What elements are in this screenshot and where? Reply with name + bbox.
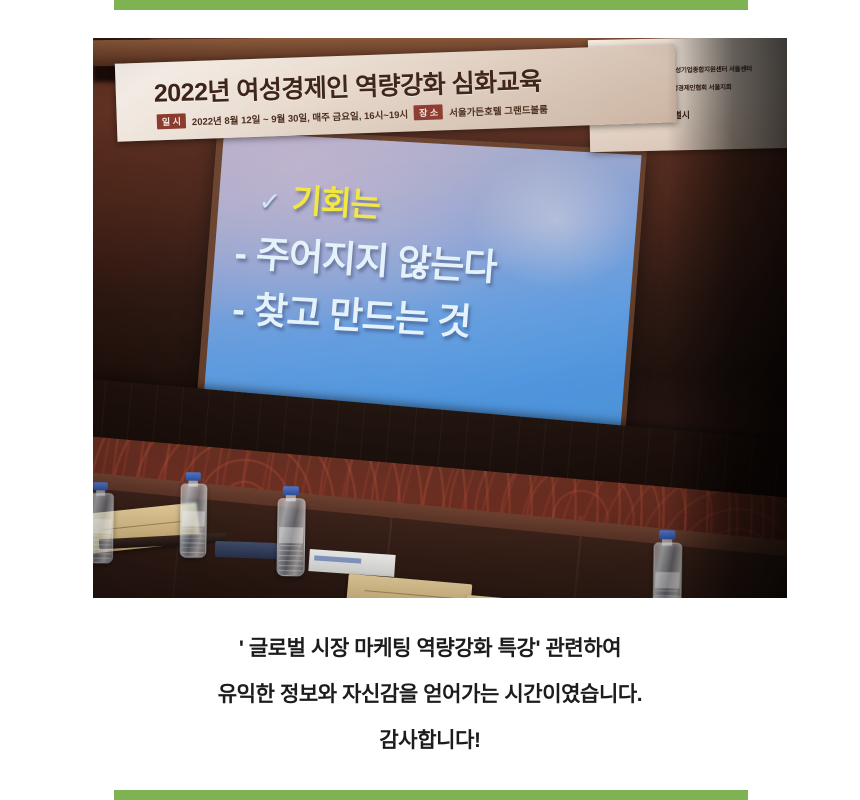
caption-block: ' 글로벌 시장 마케팅 역량강화 특강' 관련하여 유익한 정보와 자신감을 …: [0, 626, 860, 764]
caption-line-1: ' 글로벌 시장 마케팅 역량강화 특강' 관련하여: [0, 626, 860, 672]
green-rule-top: [114, 0, 748, 10]
photo-vignette: [93, 38, 787, 598]
caption-line-3: 감사합니다!: [0, 718, 860, 764]
caption-line-2: 유익한 정보와 자신감을 얻어가는 시간이였습니다.: [0, 672, 860, 718]
conference-hall-photo: ✓ 기회는 - 주어지지 않는다 - 찾고 만드는 것: [93, 38, 787, 598]
page-root: ✓ 기회는 - 주어지지 않는다 - 찾고 만드는 것: [0, 0, 860, 800]
green-rule-bottom: [114, 790, 748, 800]
